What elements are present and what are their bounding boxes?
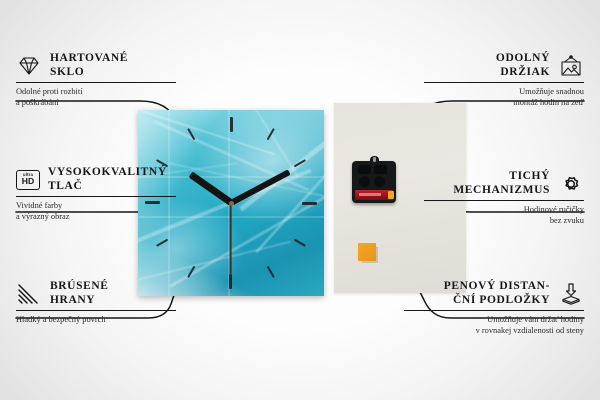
feature-divider xyxy=(424,200,584,201)
feature-desc-line1: Vividné farby xyxy=(16,201,62,210)
feature-wall-mount: ODOLNÝ DRŽIAK Umožňuje snadnou montáž ho… xyxy=(424,52,584,108)
feature-title-line2: TLAČ xyxy=(48,180,82,192)
feature-desc-line1: Hodinové ručičky xyxy=(524,205,584,214)
feature-title-line1: BRÚSENÉ xyxy=(50,280,109,292)
movement-knob-left xyxy=(359,176,370,187)
gear-icon xyxy=(558,173,584,195)
feature-divider xyxy=(404,310,584,311)
foam-pad-icon xyxy=(558,283,584,305)
feature-title-line1: HARTOVANÉ xyxy=(50,52,128,64)
feature-tempered-glass: HARTOVANÉ SKLO Odolné proti rozbití a po… xyxy=(16,52,176,108)
foam-distance-pad xyxy=(358,243,376,261)
feature-desc-line2: a poškrábání xyxy=(16,98,59,107)
feature-divider xyxy=(424,82,584,83)
feature-foam-pads: PENOVÝ DISTAN- ČNÍ PODLOŽKY Umožňuje vám… xyxy=(404,280,584,336)
feature-title-line2: ČNÍ PODLOŽKY xyxy=(453,294,550,306)
clock-center-cap xyxy=(229,201,234,206)
product-photo xyxy=(138,103,466,299)
feature-title-line1: PENOVÝ DISTAN- xyxy=(444,280,550,292)
movement-pad-right xyxy=(374,165,387,174)
feature-desc-line1: Umožňuje snadnou xyxy=(519,87,584,96)
feature-title-line1: TICHÝ xyxy=(509,170,550,182)
feature-title-line2: DRŽIAK xyxy=(500,66,550,78)
movement-shaft xyxy=(370,156,379,163)
feature-divider xyxy=(16,310,176,311)
feature-title-line2: MECHANIZMUS xyxy=(453,184,550,196)
feature-silent-mechanism: TICHÝ MECHANIZMUS Hodinové ručičky bez z… xyxy=(424,170,584,226)
wall-mount-icon xyxy=(558,55,584,77)
diamond-icon xyxy=(16,55,42,77)
feature-title-line1: VYSOKOKVALITNÝ xyxy=(48,166,167,178)
feature-divider xyxy=(16,196,176,197)
feature-beveled-edges: BRÚSENÉ HRANY Hladký a bezpečný povrch xyxy=(16,280,176,326)
battery-label-stripe xyxy=(359,193,381,196)
feature-desc-line2: v rovnakej vzdialenosti od steny xyxy=(476,326,584,335)
quartz-movement xyxy=(352,161,396,203)
feature-divider xyxy=(16,82,176,83)
feature-title-line2: HRANY xyxy=(50,294,95,306)
hd-badge-large: HD xyxy=(22,177,34,186)
movement-pad-left xyxy=(358,165,371,174)
feature-hd-print: ultra HD VYSOKOKVALITNÝ TLAČ Vividné far… xyxy=(16,166,176,222)
ultra-hd-icon: ultra HD xyxy=(16,170,40,190)
feature-title-line2: SKLO xyxy=(50,66,84,78)
infographic-canvas: HARTOVANÉ SKLO Odolné proti rozbití a po… xyxy=(0,0,600,400)
beveled-edges-icon xyxy=(16,283,42,305)
feature-desc-line2: montáž hodin na zeď xyxy=(513,98,584,107)
movement-knob-right xyxy=(374,176,385,187)
feature-desc-line2: a výrazný obraz xyxy=(16,212,69,221)
feature-desc-line2: bez zvuku xyxy=(550,216,584,225)
aa-battery xyxy=(355,190,393,200)
feature-desc-line1: Hladký a bezpečný povrch xyxy=(16,315,106,324)
feature-desc-line1: Odolné proti rozbití xyxy=(16,87,83,96)
feature-title-line1: ODOLNÝ xyxy=(496,52,550,64)
feature-desc-line1: Umožňuje vám držať hodiny xyxy=(487,315,584,324)
clock-second-hand xyxy=(230,203,232,275)
